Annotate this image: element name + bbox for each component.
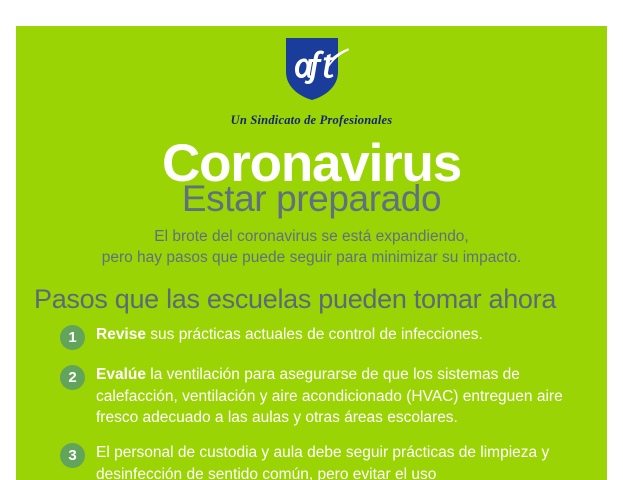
aft-shield-logo-icon [274,36,350,102]
list-item: 1 Revise sus prácticas actuales de contr… [16,324,607,350]
step-text: El personal de custodia y aula debe segu… [96,442,566,480]
logo-block: Un Sindicato de Profesionales [16,36,607,128]
logo-tagline: Un Sindicato de Profesionales [16,113,607,128]
intro-line-1: El brote del coronavirus se está expandi… [16,227,607,248]
list-item: 3 El personal de custodia y aula debe se… [16,442,607,480]
section-heading: Pasos que las escuelas pueden tomar ahor… [34,285,607,315]
step-number-badge: 2 [60,365,85,390]
step-body: la ventilación para asegurarse de que lo… [96,366,563,426]
poster-panel: Un Sindicato de Profesionales Coronaviru… [16,26,607,480]
step-text: Revise sus prácticas actuales de control… [96,324,483,345]
list-item: 2 Evalúe la ventilación para asegurarse … [16,364,607,428]
step-number-badge: 1 [60,325,85,350]
step-text: Evalúe la ventilación para asegurarse de… [96,364,566,428]
step-lead: Revise [96,326,146,343]
step-number-badge: 3 [60,443,85,468]
title-area: Coronavirus Estar preparado [16,140,607,217]
intro-text: El brote del coronavirus se está expandi… [16,227,607,269]
steps-list: 1 Revise sus prácticas actuales de contr… [16,324,607,480]
step-body: sus prácticas actuales de control de inf… [146,326,483,343]
step-lead: Evalúe [96,366,146,383]
step-body: El personal de custodia y aula debe segu… [96,444,549,480]
page-subtitle: Estar preparado [16,180,607,217]
intro-line-2: pero hay pasos que puede seguir para min… [16,248,607,269]
